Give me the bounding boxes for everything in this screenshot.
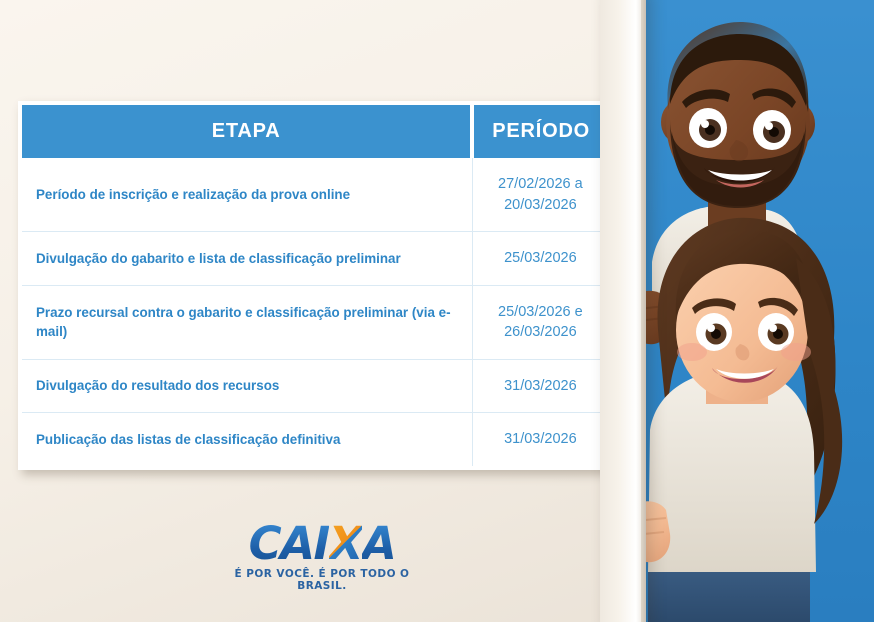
caixa-tagline: É POR VOCÊ. É POR TODO O BRASIL. (222, 568, 422, 592)
logo-part-x: X (329, 517, 362, 570)
white-panel (600, 0, 646, 622)
cell-etapa: Período de inscrição e realização da pro… (22, 158, 472, 232)
caixa-wordmark: CAIXA (249, 521, 396, 566)
table-row: Publicação das listas de classificação d… (22, 413, 608, 466)
table-row: Divulgação do gabarito e lista de classi… (22, 232, 608, 286)
schedule-table-container: ETAPA PERÍODO Período de inscrição e rea… (18, 101, 612, 470)
cell-etapa: Publicação das listas de classificação d… (22, 413, 472, 466)
logo-part-cai: CAI (249, 517, 329, 570)
cell-etapa: Divulgação do resultado dos recursos (22, 359, 472, 413)
poster-canvas: ETAPA PERÍODO Período de inscrição e rea… (0, 0, 874, 622)
cell-etapa: Divulgação do gabarito e lista de classi… (22, 232, 472, 286)
schedule-table: ETAPA PERÍODO Período de inscrição e rea… (22, 105, 608, 466)
table-body: Período de inscrição e realização da pro… (22, 158, 608, 466)
table-header: ETAPA PERÍODO (22, 105, 608, 158)
header-etapa: ETAPA (22, 105, 472, 158)
logo-part-a: A (362, 517, 395, 570)
cell-periodo: 31/03/2026 (472, 413, 608, 466)
cell-periodo: 25/03/2026 (472, 232, 608, 286)
caixa-logo: CAIXA É POR VOCÊ. É POR TODO O BRASIL. (222, 521, 422, 592)
table-header-row: ETAPA PERÍODO (22, 105, 608, 158)
cell-periodo: 27/02/2026 a 20/03/2026 (472, 158, 608, 232)
table-row: Prazo recursal contra o gabarito e class… (22, 285, 608, 359)
table-row: Divulgação do resultado dos recursos 31/… (22, 359, 608, 413)
cell-periodo: 31/03/2026 (472, 359, 608, 413)
panel-edge (641, 0, 646, 622)
header-periodo: PERÍODO (472, 105, 608, 158)
cell-etapa: Prazo recursal contra o gabarito e class… (22, 285, 472, 359)
table-row: Período de inscrição e realização da pro… (22, 158, 608, 232)
cell-periodo: 25/03/2026 e 26/03/2026 (472, 285, 608, 359)
